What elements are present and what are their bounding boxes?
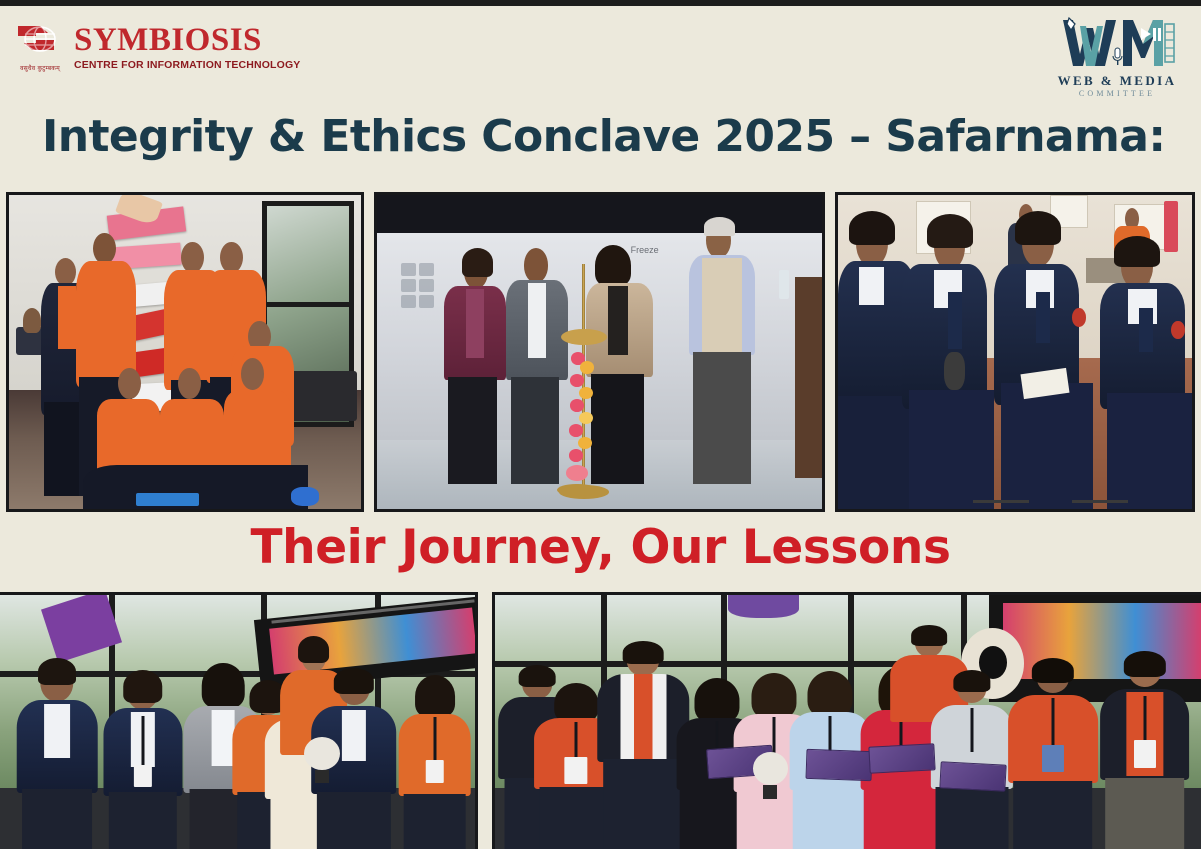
web-media-committee-logo: WEB & MEDIA COMMITTEE: [1051, 14, 1183, 106]
prize-box: [805, 749, 872, 781]
sub-title: Their Journey, Our Lessons: [0, 518, 1201, 578]
photo-3: [835, 192, 1195, 512]
wm-monogram-icon: [1055, 14, 1179, 72]
wm-subtitle: COMMITTEE: [1079, 88, 1155, 99]
memento-trophy: [304, 737, 340, 770]
screen-label: Freeze: [631, 245, 659, 255]
symbiosis-name: SYMBIOSIS: [74, 24, 300, 57]
wm-title: WEB & MEDIA: [1058, 73, 1177, 88]
prize-box: [869, 743, 936, 774]
symbiosis-motto: वसुधैव कुटुम्बकम्: [14, 64, 66, 72]
main-title: Integrity & Ethics Conclave 2025 – Safar…: [0, 109, 1201, 165]
photo-1: [6, 192, 364, 512]
symbiosis-globe-icon: वसुधैव कुटुम्बकम्: [14, 20, 66, 76]
prize-box: [939, 761, 1006, 792]
poster-header: वसुधैव कुटुम्बकम् SYMBIOSIS CENTRE FOR I…: [0, 6, 1201, 104]
photo-4: [0, 592, 478, 849]
photo-5: [492, 592, 1201, 849]
symbiosis-logo: वसुधैव कुटुम्बकम् SYMBIOSIS CENTRE FOR I…: [14, 20, 300, 76]
poster-canvas: वसुधैव कुटुम्बकम् SYMBIOSIS CENTRE FOR I…: [0, 0, 1201, 849]
photo-2: Freeze: [374, 192, 825, 512]
symbiosis-subtitle: CENTRE FOR INFORMATION TECHNOLOGY: [74, 58, 300, 72]
